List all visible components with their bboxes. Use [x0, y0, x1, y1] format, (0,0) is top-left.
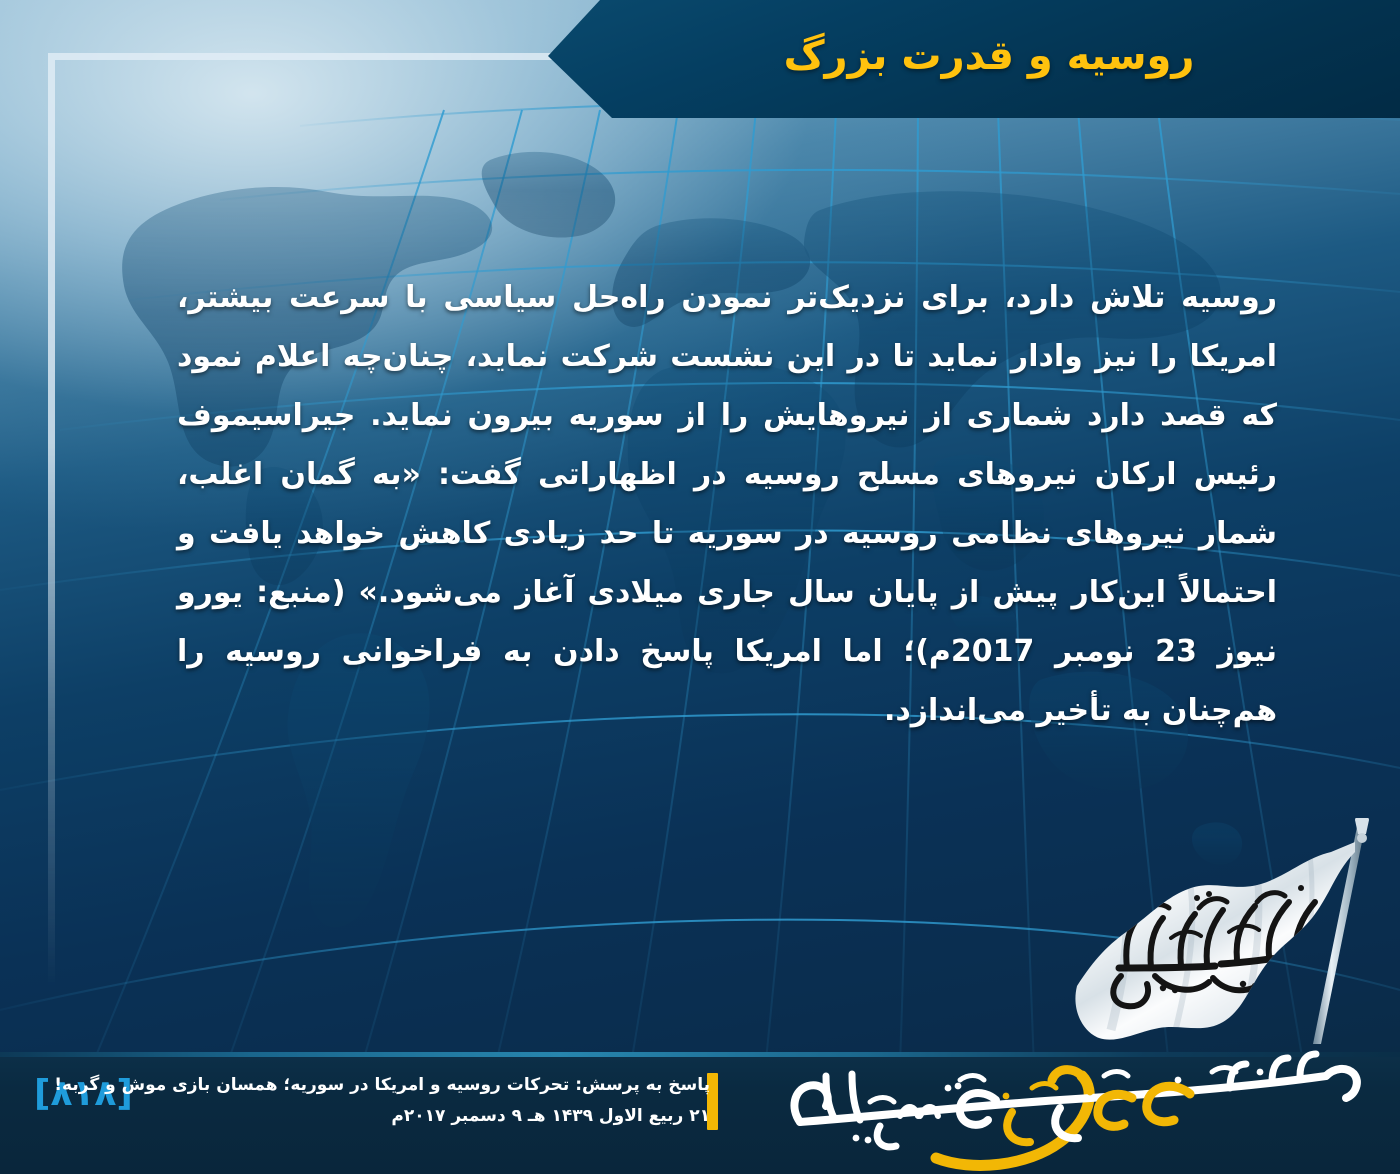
article-paragraph: روسیه تلاش دارد، برای نزدیک‌تر نمودن راه… [177, 268, 1277, 740]
page-title: روسیه و قدرت بزرگ [754, 33, 1195, 85]
footer-divider [0, 1052, 1400, 1057]
header-banner: روسیه و قدرت بزرگ [548, 0, 1400, 118]
white-shahada-flag [1055, 818, 1400, 1053]
poster-canvas: روسیه و قدرت بزرگ روسیه تلاش دارد، برای … [0, 0, 1400, 1174]
